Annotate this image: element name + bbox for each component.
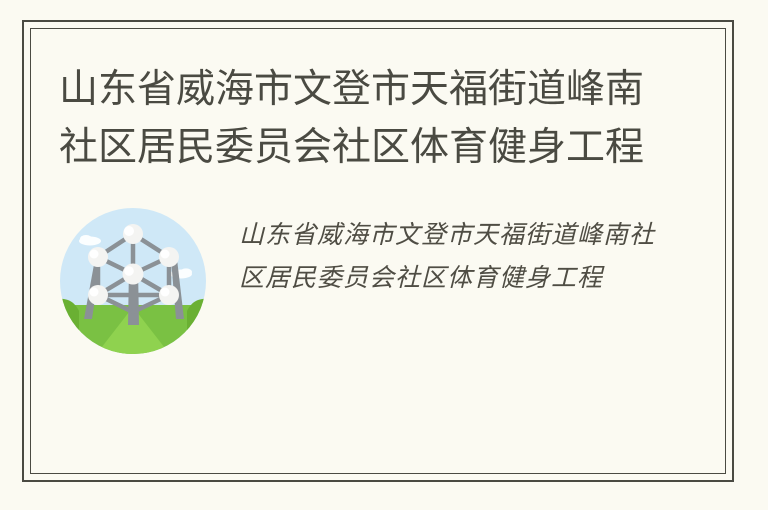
certificate-card: 山东省威海市文登市天福街道峰南社区居民委员会社区体育健身工程: [22, 20, 734, 482]
thumbnail: [59, 207, 207, 355]
certificate-card-inner-border: 山东省威海市文登市天福街道峰南社区居民委员会社区体育健身工程: [30, 28, 726, 474]
description-text: 山东省威海市文登市天福街道峰南社区居民委员会社区体育健身工程: [239, 213, 659, 299]
grass-hill-left: [59, 299, 79, 355]
content-row: 山东省威海市文登市天福街道峰南社区居民委员会社区体育健身工程: [59, 207, 705, 355]
page-title: 山东省威海市文登市天福街道峰南社区居民委员会社区体育健身工程: [59, 61, 659, 177]
atomium-monument-icon: [59, 207, 207, 355]
grass-hill-right: [187, 299, 207, 355]
